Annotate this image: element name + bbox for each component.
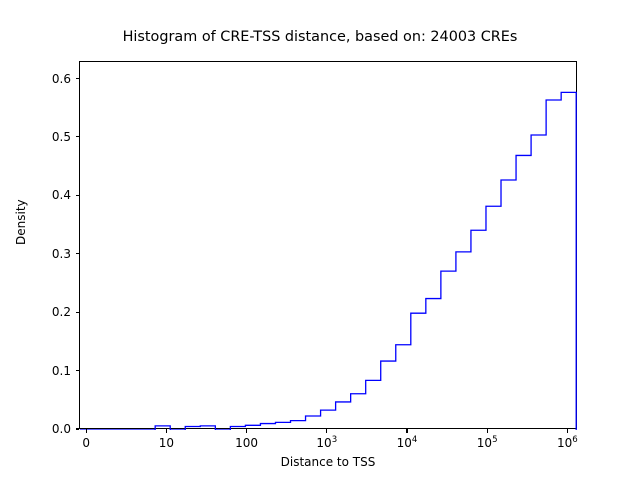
x-tick-mark <box>326 429 327 433</box>
y-tick-mark <box>76 312 80 313</box>
histogram-outline <box>80 92 576 430</box>
x-tick-label: 106 <box>557 436 578 450</box>
x-tick-label: 104 <box>397 436 418 450</box>
y-tick-mark <box>76 195 80 196</box>
y-tick-mark <box>76 428 80 429</box>
x-tick-label: 0 <box>82 436 90 450</box>
x-tick-mark <box>567 429 568 433</box>
plot-area <box>79 61 577 429</box>
chart-title: Histogram of CRE-TSS distance, based on:… <box>0 29 640 45</box>
x-axis-label: Distance to TSS <box>79 455 577 469</box>
x-tick-label: 100 <box>235 436 258 450</box>
histogram-step-plot <box>80 62 578 430</box>
y-axis-label: Density <box>14 199 28 245</box>
x-tick-label: 10 <box>159 436 174 450</box>
y-tick-label: 0.5 <box>27 130 71 144</box>
y-tick-mark <box>76 78 80 79</box>
x-tick-label: 103 <box>316 436 337 450</box>
x-tick-mark <box>246 429 247 433</box>
y-tick-mark <box>76 370 80 371</box>
x-tick-mark <box>487 429 488 433</box>
y-tick-label: 0.2 <box>27 305 71 319</box>
y-tick-label: 0.6 <box>27 72 71 86</box>
y-tick-label: 0.3 <box>27 247 71 261</box>
y-tick-mark <box>76 136 80 137</box>
y-tick-label: 0.4 <box>27 188 71 202</box>
x-tick-mark <box>406 429 407 433</box>
x-tick-label: 105 <box>477 436 498 450</box>
y-tick-mark <box>76 253 80 254</box>
y-tick-label: 0.1 <box>27 364 71 378</box>
x-tick-mark <box>166 429 167 433</box>
y-tick-label: 0.0 <box>27 422 71 436</box>
x-tick-mark <box>86 429 87 433</box>
figure-canvas: Histogram of CRE-TSS distance, based on:… <box>0 0 640 480</box>
